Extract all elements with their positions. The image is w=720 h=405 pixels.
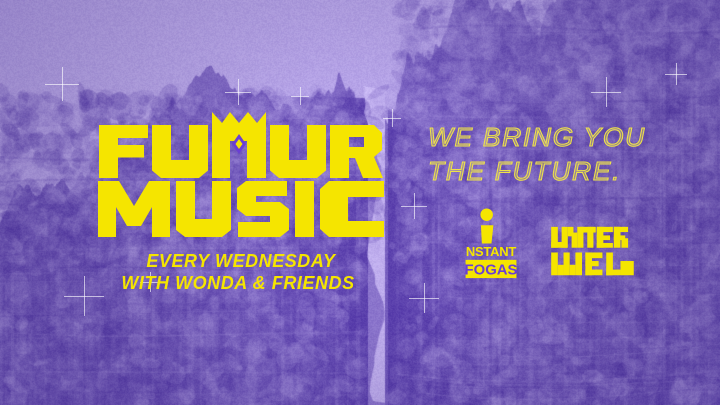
- sponsor-logos: NSTANT FOGAS: [455, 208, 635, 280]
- subtitle-line-1: EVERY WEDNESDAY: [100, 250, 381, 272]
- instant-fogas-word1: NSTANT: [466, 244, 516, 259]
- festival-logo: EVERY WEDNESDAY WITH WONDA & FRIENDS: [96, 108, 386, 293]
- sponsor-interwell[interactable]: [549, 224, 635, 280]
- logo-word-future: [96, 108, 386, 178]
- event-poster: EVERY WEDNESDAY WITH WONDA & FRIENDS WE …: [0, 0, 720, 405]
- sponsor-instant-fogas[interactable]: NSTANT FOGAS: [455, 208, 527, 280]
- interwell-logo-icon: [549, 224, 635, 280]
- tagline: WE BRING YOU THE FUTURE.: [428, 120, 646, 189]
- instant-fogas-logo-icon: NSTANT FOGAS: [455, 208, 527, 280]
- subtitle-line-2: WITH WONDA & FRIENDS: [94, 272, 381, 294]
- instant-fogas-word2: FOGAS: [465, 263, 518, 279]
- logo-word-music: [96, 174, 386, 240]
